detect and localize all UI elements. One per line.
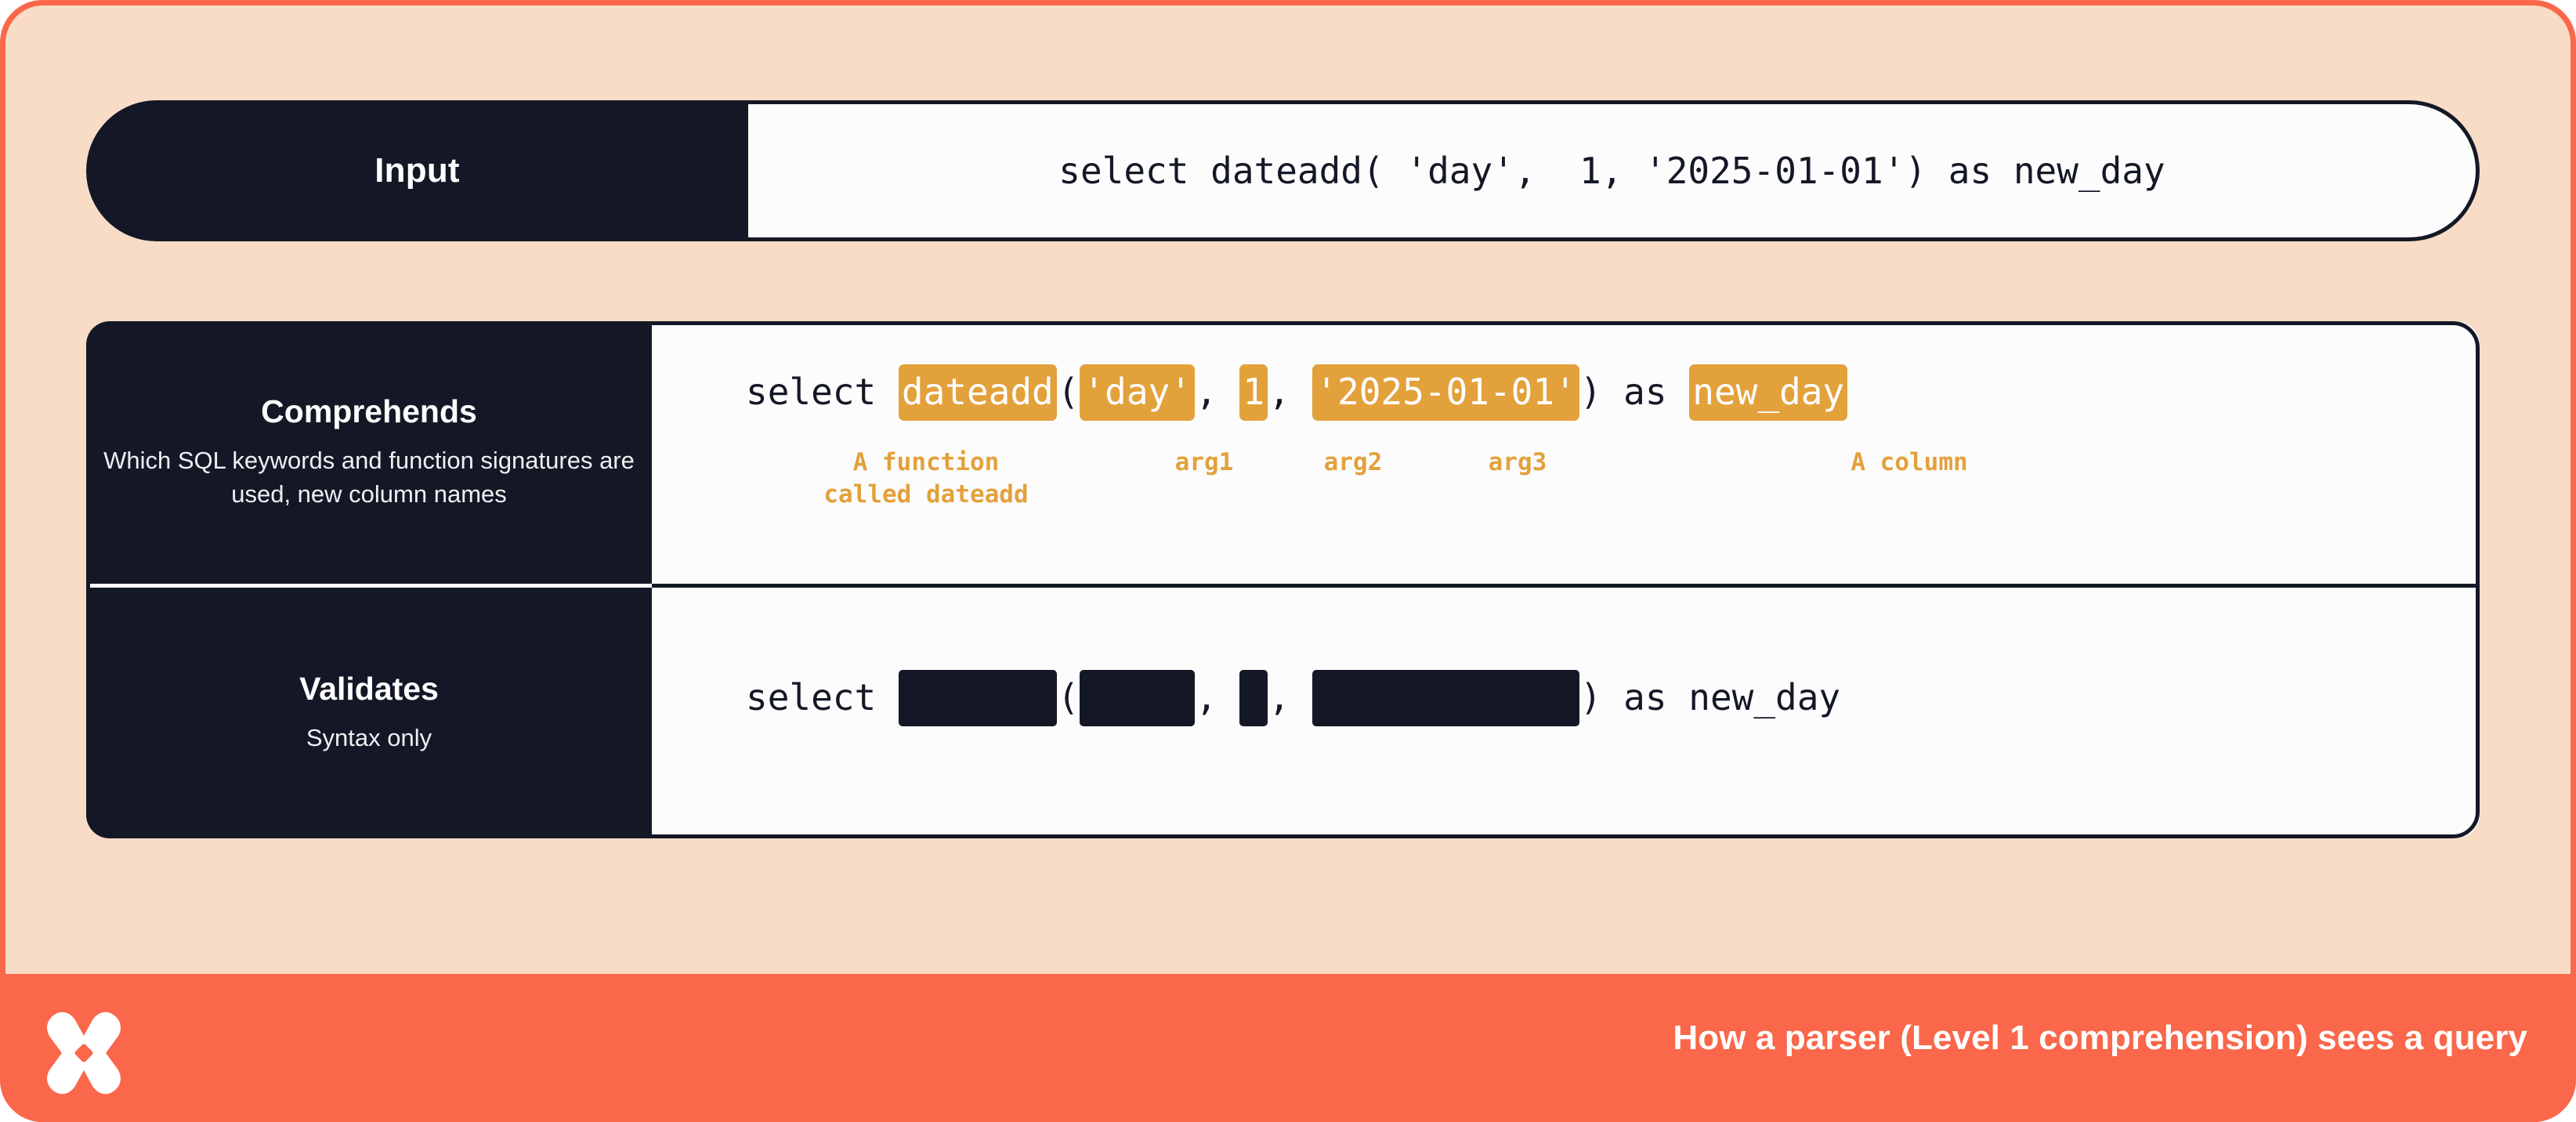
input-row-label: Input xyxy=(86,100,748,241)
redacted-token-arg3: '2025-01-01' xyxy=(1312,670,1579,726)
redacted-token-function-name: dateadd xyxy=(899,670,1057,726)
code-token-close-paren: ) xyxy=(1580,676,1602,718)
code-token-open-paren: ( xyxy=(1058,676,1080,718)
comprehends-subtitle: Which SQL keywords and function signatur… xyxy=(103,444,635,512)
lower-card: Comprehends Which SQL keywords and funct… xyxy=(86,321,2480,838)
footer-caption: How a parser (Level 1 comprehension) see… xyxy=(1673,1011,2527,1066)
validates-code-line: select dateadd('day', 1, '2025-01-01') a… xyxy=(746,670,1840,726)
input-row-code-pane: select dateadd( 'day', 1, '2025-01-01') … xyxy=(748,100,2480,241)
code-token-as-keyword: as xyxy=(1601,676,1688,718)
code-token-select: select xyxy=(746,676,898,718)
code-token-sep1: , xyxy=(1196,371,1239,413)
x-star-logo-icon xyxy=(41,1011,127,1095)
code-token-arg2: 1 xyxy=(1239,364,1268,421)
comprehends-title: Comprehends xyxy=(261,393,477,430)
input-label-text: Input xyxy=(374,151,460,190)
annotation-layer: A function called dateadd arg1 arg2 arg3… xyxy=(652,321,2480,584)
redacted-token-arg1: 'day' xyxy=(1080,670,1194,726)
comprehends-code-line: select dateadd('day', 1, '2025-01-01') a… xyxy=(746,364,1848,421)
column-annotation: A column xyxy=(1800,447,2019,479)
arg3-annotation: arg3 xyxy=(1463,447,1572,479)
redacted-token-arg2: 1 xyxy=(1239,670,1268,726)
code-token-sep1: , xyxy=(1196,676,1239,718)
arg2-annotation: arg2 xyxy=(1298,447,1408,479)
code-token-function-name: dateadd xyxy=(899,364,1057,421)
comprehends-row-label: Comprehends Which SQL keywords and funct… xyxy=(86,321,652,584)
code-token-alias: new_day xyxy=(1688,676,1840,718)
function-annotation: A function called dateadd xyxy=(746,447,1106,511)
code-token-arg1: 'day' xyxy=(1080,364,1194,421)
validates-subtitle: Syntax only xyxy=(306,722,432,755)
infographic-frame: Input select dateadd( 'day', 1, '2025-01… xyxy=(0,0,2576,1122)
code-token-select: select xyxy=(746,371,898,413)
code-token-as-keyword: as xyxy=(1601,371,1688,413)
comprehends-code-pane: select dateadd('day', 1, '2025-01-01') a… xyxy=(652,321,2480,584)
code-token-sep2: , xyxy=(1268,676,1312,718)
code-token-arg3: '2025-01-01' xyxy=(1312,364,1579,421)
code-token-open-paren: ( xyxy=(1058,371,1080,413)
input-query-text: select dateadd( 'day', 1, '2025-01-01') … xyxy=(1058,150,2165,192)
validates-code-pane: select dateadd('day', 1, '2025-01-01') a… xyxy=(652,588,2480,838)
code-token-sep2: , xyxy=(1268,371,1312,413)
code-token-alias: new_day xyxy=(1689,364,1847,421)
validates-row: Validates Syntax only select dateadd('da… xyxy=(86,588,2480,838)
arg1-annotation: arg1 xyxy=(1149,447,1259,479)
comprehends-row: Comprehends Which SQL keywords and funct… xyxy=(86,321,2480,584)
code-token-close-paren: ) xyxy=(1580,371,1602,413)
input-row: Input select dateadd( 'day', 1, '2025-01… xyxy=(86,100,2480,241)
validates-title: Validates xyxy=(299,671,439,708)
validates-row-label: Validates Syntax only xyxy=(86,588,652,838)
